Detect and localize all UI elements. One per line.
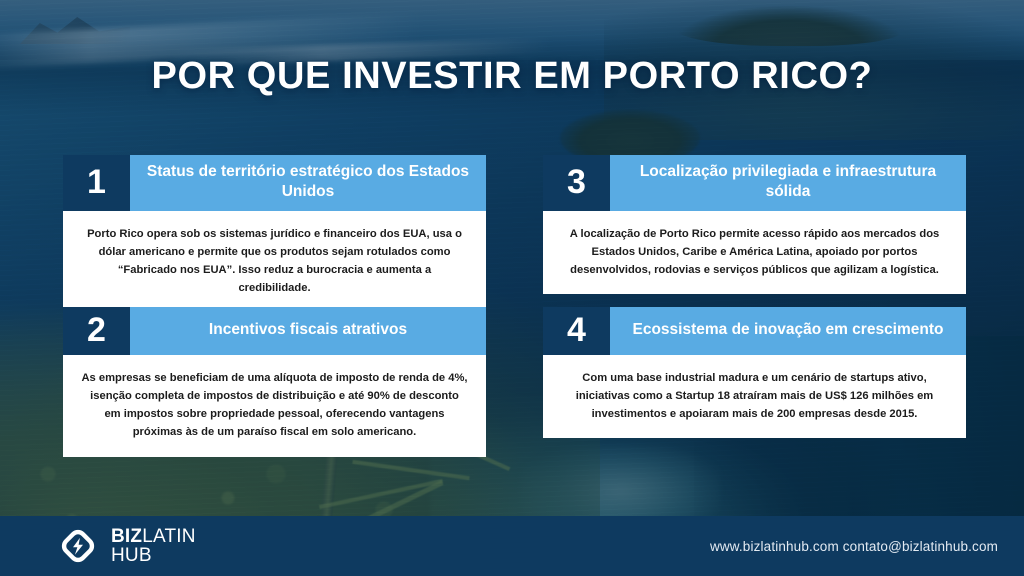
card-heading: Localização privilegiada e infraestrutur…: [610, 155, 966, 211]
brand-word-hub: HUB: [111, 546, 196, 565]
card-heading: Ecossistema de inovação em crescimento: [610, 307, 966, 355]
brand-word-biz: BIZ: [111, 526, 142, 547]
card-body-text: As empresas se beneficiam de uma alíquot…: [63, 355, 486, 457]
card-heading: Status de território estratégico dos Est…: [130, 155, 486, 211]
info-card-header: 4 Ecossistema de inovação em crescimento: [543, 307, 966, 355]
card-body-text: Porto Rico opera sob os sistemas jurídic…: [63, 211, 486, 313]
page-title: POR QUE INVESTIR EM PORTO RICO?: [0, 55, 1024, 98]
card-number-badge: 2: [63, 307, 130, 355]
footer-bar: BIZLATIN HUB www.bizlatinhub.com contato…: [0, 516, 1024, 576]
card-number-badge: 3: [543, 155, 610, 211]
card-number-badge: 4: [543, 307, 610, 355]
brand-logo[interactable]: BIZLATIN HUB: [58, 526, 196, 566]
info-card-header: 1 Status de território estratégico dos E…: [63, 155, 486, 211]
info-card-header: 3 Localização privilegiada e infraestrut…: [543, 155, 966, 211]
infographic-slide: POR QUE INVESTIR EM PORTO RICO? 1 Status…: [0, 0, 1024, 576]
brand-word-latin: LATIN: [142, 526, 195, 547]
info-card-1: 1 Status de território estratégico dos E…: [63, 155, 486, 312]
card-number-badge: 1: [63, 155, 130, 211]
card-heading: Incentivos fiscais atrativos: [130, 307, 486, 355]
brand-wordmark: BIZLATIN HUB: [111, 527, 196, 566]
card-body-text: Com uma base industrial madura e um cená…: [543, 355, 966, 438]
card-body-text: A localização de Porto Rico permite aces…: [543, 211, 966, 294]
footer-contact-links[interactable]: www.bizlatinhub.com contato@bizlatinhub.…: [710, 539, 998, 554]
bizlatinhub-logo-icon: [58, 526, 98, 566]
info-card-3: 3 Localização privilegiada e infraestrut…: [543, 155, 966, 294]
info-card-4: 4 Ecossistema de inovação em crescimento…: [543, 307, 966, 438]
info-card-2: 2 Incentivos fiscais atrativos As empres…: [63, 307, 486, 457]
info-card-header: 2 Incentivos fiscais atrativos: [63, 307, 486, 355]
